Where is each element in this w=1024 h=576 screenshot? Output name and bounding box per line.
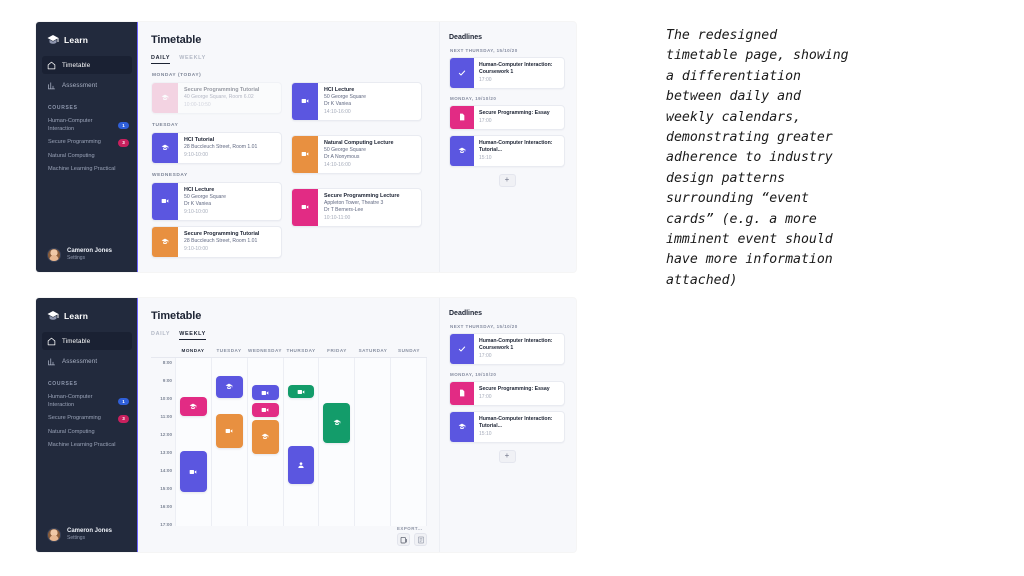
daily-column-left: MONDAY (TODAY) Secure Programming Tutori…	[151, 73, 282, 263]
deadline-card[interactable]: Human-Computer Interaction: Coursework 1…	[449, 57, 565, 89]
add-deadline-button[interactable]: +	[499, 450, 516, 463]
deadline-date-heading: NEXT THURSDAY, 15/10/20	[450, 48, 565, 53]
time-tick: 13:00	[160, 450, 172, 455]
event-lecturer: Dr A Nonymous	[324, 154, 393, 161]
deadline-card[interactable]: Secure Programming: Essay 17:00	[449, 381, 565, 406]
event-body: Secure Programming Lecture Appleton Towe…	[318, 189, 405, 226]
event-lecturer: Dr K Vaniea	[184, 201, 226, 208]
weekly-main: Timetable DAILY WEEKLY MONDAY TUESDAY WE…	[138, 298, 439, 552]
sidebar-spacer	[36, 453, 138, 522]
sidebar-course-hci[interactable]: Human-Computer Interaction 1	[36, 391, 138, 412]
event-time: 10:10-11:00	[324, 215, 400, 222]
course-label: Human-Computer Interaction	[48, 118, 116, 133]
time-axis: 8:00 9:00 10:00 11:00 12:00 13:00 14:00 …	[151, 358, 175, 526]
week-event-block[interactable]	[180, 451, 207, 492]
event-title: Natural Computing Lecture	[324, 140, 393, 147]
user-profile[interactable]: Cameron Jones Settings	[36, 522, 138, 544]
week-event-block[interactable]	[252, 420, 279, 454]
time-tick: 16:00	[160, 504, 172, 509]
deadline-date-heading: NEXT THURSDAY, 15/10/20	[450, 324, 565, 329]
event-body: HCI Tutorial 28 Buccleuch Street, Room 1…	[178, 133, 262, 163]
daily-main: Timetable DAILY WEEKLY MONDAY (TODAY) Se…	[138, 22, 439, 272]
deadline-body: Human-Computer Interaction: Tutorial... …	[474, 412, 564, 442]
deadline-time: 15:10	[479, 431, 560, 438]
event-time: 9:10-10:00	[184, 209, 226, 216]
export-buttons	[397, 533, 427, 546]
event-title: HCI Lecture	[184, 187, 226, 194]
avatar	[47, 248, 61, 262]
week-event-block[interactable]	[216, 376, 243, 398]
sidebar-item-label: Assessment	[62, 82, 97, 89]
week-event-block[interactable]	[288, 385, 315, 398]
event-card[interactable]: Secure Programming Lecture Appleton Towe…	[291, 188, 422, 227]
document-icon	[450, 106, 474, 129]
daily-columns: MONDAY (TODAY) Secure Programming Tutori…	[151, 73, 427, 263]
tutorial-icon	[152, 83, 178, 113]
tab-weekly[interactable]: WEEKLY	[179, 331, 206, 340]
time-tick: 9:00	[163, 378, 172, 383]
day-column-sunday[interactable]	[390, 358, 427, 526]
day-column-friday[interactable]	[318, 358, 354, 526]
week-event-block[interactable]	[180, 397, 207, 416]
sidebar-item-assessment[interactable]: Assessment	[42, 352, 132, 370]
event-time: 9:10-10:00	[184, 246, 259, 253]
view-tabs: DAILY WEEKLY	[151, 55, 427, 64]
weekly-calendar: MONDAY TUESDAY WEDNESDAY THURSDAY FRIDAY…	[151, 348, 427, 526]
event-time: 9:10-10:00	[184, 152, 257, 159]
brand-logo[interactable]: Learn	[36, 308, 138, 331]
deadline-date-heading: MONDAY, 19/10/20	[450, 372, 565, 377]
course-badge: 3	[118, 415, 129, 423]
timetable-app-daily: Learn Timetable Assessment COURSES Human…	[36, 22, 576, 272]
home-icon	[47, 61, 56, 70]
day-column-tuesday[interactable]	[211, 358, 247, 526]
deadline-body: Secure Programming: Essay 17:00	[474, 106, 554, 129]
event-title: HCI Tutorial	[184, 137, 257, 144]
deadlines-title: Deadlines	[449, 34, 565, 41]
event-body: HCI Lecture 50 George Square Dr K Vaniea…	[318, 83, 371, 120]
graduation-cap-icon	[47, 34, 59, 45]
sidebar-item-label: Assessment	[62, 358, 97, 365]
event-body: HCI Lecture 50 George Square Dr K Vaniea…	[178, 183, 231, 220]
sidebar-item-label: Timetable	[62, 62, 90, 69]
day-column-monday[interactable]	[175, 358, 211, 526]
event-title: Secure Programming Lecture	[324, 193, 400, 200]
sidebar-item-timetable[interactable]: Timetable	[42, 332, 132, 350]
deadline-title: Human-Computer Interaction: Coursework 1	[479, 338, 560, 352]
lecture-icon	[292, 189, 318, 226]
sidebar-item-assessment[interactable]: Assessment	[42, 76, 132, 94]
course-label: Natural Computing	[48, 429, 95, 437]
daily-column-right: HCI Lecture 50 George Square Dr K Vaniea…	[291, 73, 422, 263]
user-settings-link[interactable]: Settings	[67, 535, 112, 542]
week-event-block[interactable]	[323, 403, 350, 443]
day-heading: WEDNESDAY	[152, 173, 282, 178]
brand-logo[interactable]: Learn	[36, 32, 138, 55]
day-column-thursday[interactable]	[283, 358, 319, 526]
add-deadline-button[interactable]: +	[499, 174, 516, 187]
sidebar-course-machine-learning-practical[interactable]: Machine Learning Practical	[36, 439, 138, 453]
event-location: 50 George Square	[324, 94, 366, 101]
time-tick: 14:00	[160, 468, 172, 473]
user-profile[interactable]: Cameron Jones Settings	[36, 242, 138, 264]
brand-label: Learn	[64, 311, 88, 321]
home-icon	[47, 337, 56, 346]
user-name: Cameron Jones	[67, 247, 112, 255]
time-tick: 12:00	[160, 432, 172, 437]
deadline-title: Secure Programming: Essay	[479, 386, 550, 393]
event-card[interactable]: HCI Lecture 50 George Square Dr K Vaniea…	[291, 82, 422, 121]
course-label: Natural Computing	[48, 153, 95, 161]
sidebar-course-natural-computing[interactable]: Natural Computing	[36, 150, 138, 164]
deadline-card[interactable]: Human-Computer Interaction: Tutorial... …	[449, 411, 565, 443]
view-tabs: DAILY WEEKLY	[151, 331, 427, 340]
checkmark-icon	[450, 334, 474, 364]
export-pdf-icon[interactable]	[414, 533, 427, 546]
time-tick: 8:00	[163, 360, 172, 365]
event-location: 50 George Square	[184, 194, 226, 201]
tutorial-icon	[450, 412, 474, 442]
deadline-card[interactable]: Human-Computer Interaction: Coursework 1…	[449, 333, 565, 365]
event-card[interactable]: HCI Tutorial 28 Buccleuch Street, Room 1…	[151, 132, 282, 164]
export-calendar-icon[interactable]	[397, 533, 410, 546]
deadline-time: 15:10	[479, 155, 560, 162]
courses-heading: COURSES	[36, 371, 138, 391]
deadline-title: Human-Computer Interaction: Coursework 1	[479, 62, 560, 76]
deadline-body: Human-Computer Interaction: Coursework 1…	[474, 58, 564, 88]
time-tick: 11:00	[161, 414, 173, 419]
day-column-saturday[interactable]	[354, 358, 390, 526]
event-location: Appleton Tower, Theatre 3	[324, 200, 400, 207]
page-title: Timetable	[151, 310, 427, 322]
lecture-icon	[152, 183, 178, 220]
user-settings-link[interactable]: Settings	[67, 255, 112, 262]
checkmark-icon	[450, 58, 474, 88]
lecture-icon	[292, 83, 318, 120]
event-title: Secure Programming Tutorial	[184, 87, 259, 94]
sidebar-course-secure-programming[interactable]: Secure Programming 3	[36, 136, 138, 150]
deadlines-panel-daily: Deadlines NEXT THURSDAY, 15/10/20 Human-…	[439, 22, 576, 272]
event-title: HCI Lecture	[324, 87, 366, 94]
user-name: Cameron Jones	[67, 527, 112, 535]
brand-label: Learn	[64, 35, 88, 45]
deadline-card[interactable]: Human-Computer Interaction: Tutorial... …	[449, 135, 565, 167]
deadline-body: Human-Computer Interaction: Tutorial... …	[474, 136, 564, 166]
event-body: Secure Programming Tutorial 28 Buccleuch…	[178, 227, 264, 257]
deadline-time: 17:00	[479, 353, 560, 360]
avatar	[47, 528, 61, 542]
tutorial-icon	[152, 133, 178, 163]
event-body: Secure Programming Tutorial 40 George Sq…	[178, 83, 264, 113]
weekly-grid-body: 8:00 9:00 10:00 11:00 12:00 13:00 14:00 …	[151, 358, 427, 526]
sidebar-course-secure-programming[interactable]: Secure Programming 3	[36, 412, 138, 426]
sidebar-item-label: Timetable	[62, 338, 90, 345]
sidebar-spacer	[36, 177, 138, 242]
event-time: 14:10-16:00	[324, 109, 366, 116]
day-header-wednesday[interactable]: WEDNESDAY	[247, 348, 283, 353]
course-label: Secure Programming	[48, 415, 101, 423]
user-text: Cameron Jones Settings	[67, 527, 112, 542]
graduation-cap-icon	[47, 310, 59, 321]
courses-heading: COURSES	[36, 95, 138, 115]
deadline-card[interactable]: Secure Programming: Essay 17:00	[449, 105, 565, 130]
bar-chart-icon	[47, 357, 56, 366]
event-time: 10:00-10:50	[184, 102, 259, 109]
event-body: Natural Computing Lecture 50 George Squa…	[318, 136, 398, 173]
document-icon	[450, 382, 474, 405]
deadline-time: 17:00	[479, 394, 550, 401]
event-location: 40 George Square, Room 6.02	[184, 94, 259, 101]
event-lecturer: Dr T Berners-Lee	[324, 207, 400, 214]
week-event-block[interactable]	[252, 385, 279, 400]
deadline-body: Secure Programming: Essay 17:00	[474, 382, 554, 405]
sidebar-course-hci[interactable]: Human-Computer Interaction 1	[36, 115, 138, 136]
day-header-saturday[interactable]: SATURDAY	[355, 348, 391, 353]
time-tick: 15:00	[160, 486, 172, 491]
day-header-friday[interactable]: FRIDAY	[319, 348, 355, 353]
course-badge: 1	[118, 398, 129, 406]
course-label: Human-Computer Interaction	[48, 394, 116, 409]
day-header-monday[interactable]: MONDAY	[175, 348, 211, 353]
deadline-title: Human-Computer Interaction: Tutorial...	[479, 140, 560, 154]
day-header-tuesday[interactable]: TUESDAY	[211, 348, 247, 353]
page-title: Timetable	[151, 34, 427, 46]
week-event-block[interactable]	[288, 446, 315, 484]
sidebar-course-machine-learning-practical[interactable]: Machine Learning Practical	[36, 163, 138, 177]
tab-weekly[interactable]: WEEKLY	[179, 55, 206, 64]
event-title: Secure Programming Tutorial	[184, 231, 259, 238]
deadline-date-heading: MONDAY, 19/10/20	[450, 96, 565, 101]
week-event-block[interactable]	[252, 403, 279, 417]
sidebar-weekly: Learn Timetable Assessment COURSES Human…	[36, 298, 138, 552]
week-event-block[interactable]	[216, 414, 243, 448]
deadline-time: 17:00	[479, 118, 550, 125]
day-column-wednesday[interactable]	[247, 358, 283, 526]
export-section: EXPORT...	[397, 526, 427, 546]
deadlines-title: Deadlines	[449, 310, 565, 317]
screenshot-root: Learn Timetable Assessment COURSES Human…	[0, 0, 1024, 576]
event-location: 28 Buccleuch Street, Room 1.01	[184, 144, 257, 151]
event-card[interactable]: Secure Programming Tutorial 40 George Sq…	[151, 82, 282, 114]
event-time: 14:10-16:00	[324, 162, 393, 169]
event-card[interactable]: Secure Programming Tutorial 28 Buccleuch…	[151, 226, 282, 258]
export-label: EXPORT...	[397, 526, 427, 531]
day-heading: TUESDAY	[152, 123, 282, 128]
event-card[interactable]: HCI Lecture 50 George Square Dr K Vaniea…	[151, 182, 282, 221]
bar-chart-icon	[47, 81, 56, 90]
event-location: 50 George Square	[324, 147, 393, 154]
lecture-icon	[292, 136, 318, 173]
event-card[interactable]: Natural Computing Lecture 50 George Squa…	[291, 135, 422, 174]
tutorial-icon	[152, 227, 178, 257]
course-badge: 3	[118, 139, 129, 147]
figure-caption: The redesigned timetable page, showing a…	[666, 26, 916, 291]
course-badge: 1	[118, 122, 129, 130]
course-label: Machine Learning Practical	[48, 442, 115, 450]
course-label: Machine Learning Practical	[48, 166, 115, 174]
day-header-sunday[interactable]: SUNDAY	[391, 348, 427, 353]
sidebar-course-natural-computing[interactable]: Natural Computing	[36, 426, 138, 440]
event-location: 28 Buccleuch Street, Room 1.01	[184, 238, 259, 245]
event-lecturer: Dr K Vaniea	[324, 101, 366, 108]
day-header-thursday[interactable]: THURSDAY	[283, 348, 319, 353]
time-tick: 17:00	[160, 522, 172, 527]
tutorial-icon	[450, 136, 474, 166]
time-gutter-header	[151, 348, 175, 353]
deadline-title: Secure Programming: Essay	[479, 110, 550, 117]
deadline-title: Human-Computer Interaction: Tutorial...	[479, 416, 560, 430]
sidebar-daily: Learn Timetable Assessment COURSES Human…	[36, 22, 138, 272]
deadline-time: 17:00	[479, 77, 560, 84]
sidebar-item-timetable[interactable]: Timetable	[42, 56, 132, 74]
deadlines-panel-weekly: Deadlines NEXT THURSDAY, 15/10/20 Human-…	[439, 298, 576, 552]
time-tick: 10:00	[160, 396, 172, 401]
deadline-body: Human-Computer Interaction: Coursework 1…	[474, 334, 564, 364]
day-heading: MONDAY (TODAY)	[152, 73, 282, 78]
course-label: Secure Programming	[48, 139, 101, 147]
tab-daily[interactable]: DAILY	[151, 55, 170, 64]
timetable-app-weekly: Learn Timetable Assessment COURSES Human…	[36, 298, 576, 552]
tab-daily[interactable]: DAILY	[151, 331, 170, 340]
user-text: Cameron Jones Settings	[67, 247, 112, 262]
weekly-day-headers: MONDAY TUESDAY WEDNESDAY THURSDAY FRIDAY…	[151, 348, 427, 358]
